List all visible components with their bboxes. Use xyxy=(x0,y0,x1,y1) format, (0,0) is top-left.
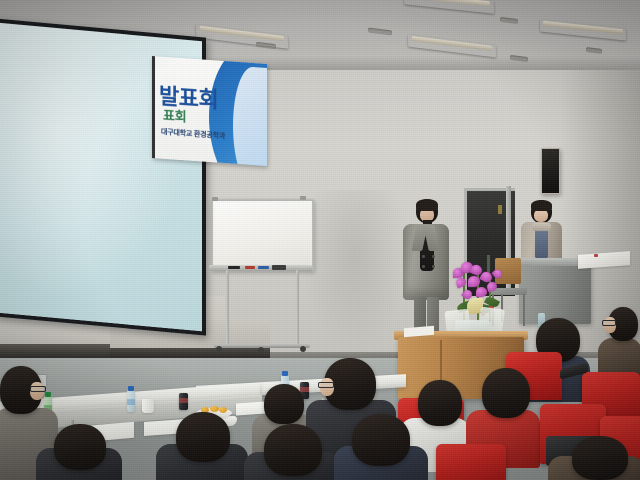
lectern xyxy=(519,262,591,324)
audience-seat[interactable] xyxy=(436,444,506,480)
whiteboard-eraser[interactable] xyxy=(272,265,286,270)
audience-head xyxy=(264,424,322,476)
os-window-row-label-3: 확인 xyxy=(60,93,68,99)
whiteboard xyxy=(211,199,314,271)
slide-connector xyxy=(0,243,26,246)
banner-title-line2: 표회 xyxy=(163,105,186,126)
lectern-marker xyxy=(594,254,598,257)
wall-speaker xyxy=(541,148,560,194)
slide-node-box: 빗물 관리를 위한 인력 확충 xyxy=(26,268,134,293)
beverage-can xyxy=(179,393,188,410)
audience-head xyxy=(482,368,530,418)
slide-logo: PROJECT xyxy=(112,111,140,119)
whiteboard-wheel xyxy=(300,346,306,352)
stage-riser-secondary-front xyxy=(110,348,270,358)
audience-head xyxy=(264,384,304,424)
whiteboard-surface xyxy=(215,203,310,267)
whiteboard-marker[interactable] xyxy=(258,266,269,269)
wall-soft-shadow xyxy=(300,190,410,350)
door-hinge xyxy=(498,205,502,214)
snack-item xyxy=(210,406,219,412)
whiteboard-marker[interactable] xyxy=(228,266,240,269)
audience-head xyxy=(176,412,230,462)
slide-title-bar: 으로의 발전 방향 xyxy=(0,114,166,153)
orchid-bloom xyxy=(468,276,480,287)
orchid-bloom xyxy=(492,268,504,280)
whiteboard-clip xyxy=(212,197,218,201)
audience-head xyxy=(352,414,410,466)
slide-connector xyxy=(0,155,26,158)
slide-connector xyxy=(0,274,26,277)
audience-head xyxy=(572,436,628,480)
whiteboard-stand-post xyxy=(226,270,229,346)
os-window-row-label-1: 항목명 xyxy=(2,53,14,59)
eyeglasses xyxy=(318,382,334,388)
whiteboard-wheel xyxy=(216,346,222,352)
slide-logo-text: PROJECT xyxy=(112,111,133,118)
podium-presenter-collar xyxy=(532,223,551,231)
event-banner: 발표회 표회 대구대학교 환경공학과 xyxy=(152,56,267,166)
slide-node-box: 저류조 설치 비용 xyxy=(26,149,130,173)
coat-button xyxy=(432,265,435,268)
os-window-row-label-2: 상세 입력 내용 xyxy=(2,71,28,78)
podium-presenter-hair xyxy=(531,200,552,211)
eyeglasses xyxy=(602,320,616,326)
orchid-bloom xyxy=(486,281,498,292)
water-bottle xyxy=(127,390,135,412)
taskbar-icons: ▪ ▫ ▪ ▫ ▪ xyxy=(175,320,196,327)
slide-connector xyxy=(0,213,26,216)
slide-node-box: 관리를 위한 제도적 근거 마련 xyxy=(24,237,134,262)
orchid-bloom xyxy=(455,277,467,289)
eyeglasses xyxy=(30,386,46,392)
side-chair-leg xyxy=(523,294,525,326)
whiteboard-wheel xyxy=(258,347,264,353)
audience-head xyxy=(418,380,462,426)
orchid-bloom xyxy=(476,287,487,297)
presenter-hair xyxy=(416,199,438,211)
orchid-arrangement xyxy=(443,262,515,340)
coat-button xyxy=(422,255,425,258)
coat-button xyxy=(422,265,425,268)
photo-scene: 항목명 상세 입력 내용 자료 항목기 기록 확인 으로의 발전 방향 PROJ… xyxy=(0,0,640,480)
slide-node-box: 빗물 수집에 기반 검토 xyxy=(26,207,130,231)
slide-title: 으로의 발전 방향 xyxy=(0,118,166,148)
whiteboard-clip xyxy=(300,196,306,200)
audience-head xyxy=(54,424,106,470)
paper-cup xyxy=(142,399,154,413)
slide-logo-mark xyxy=(135,113,140,118)
coat-button xyxy=(432,255,435,258)
snack-item xyxy=(219,407,227,413)
presentation-slide: 으로의 발전 방향 PROJECT 저류조 설치 비용 빗물 수집에 기반 검토… xyxy=(0,95,166,310)
whiteboard-stand-post xyxy=(296,270,299,344)
whiteboard-marker[interactable] xyxy=(245,266,255,269)
